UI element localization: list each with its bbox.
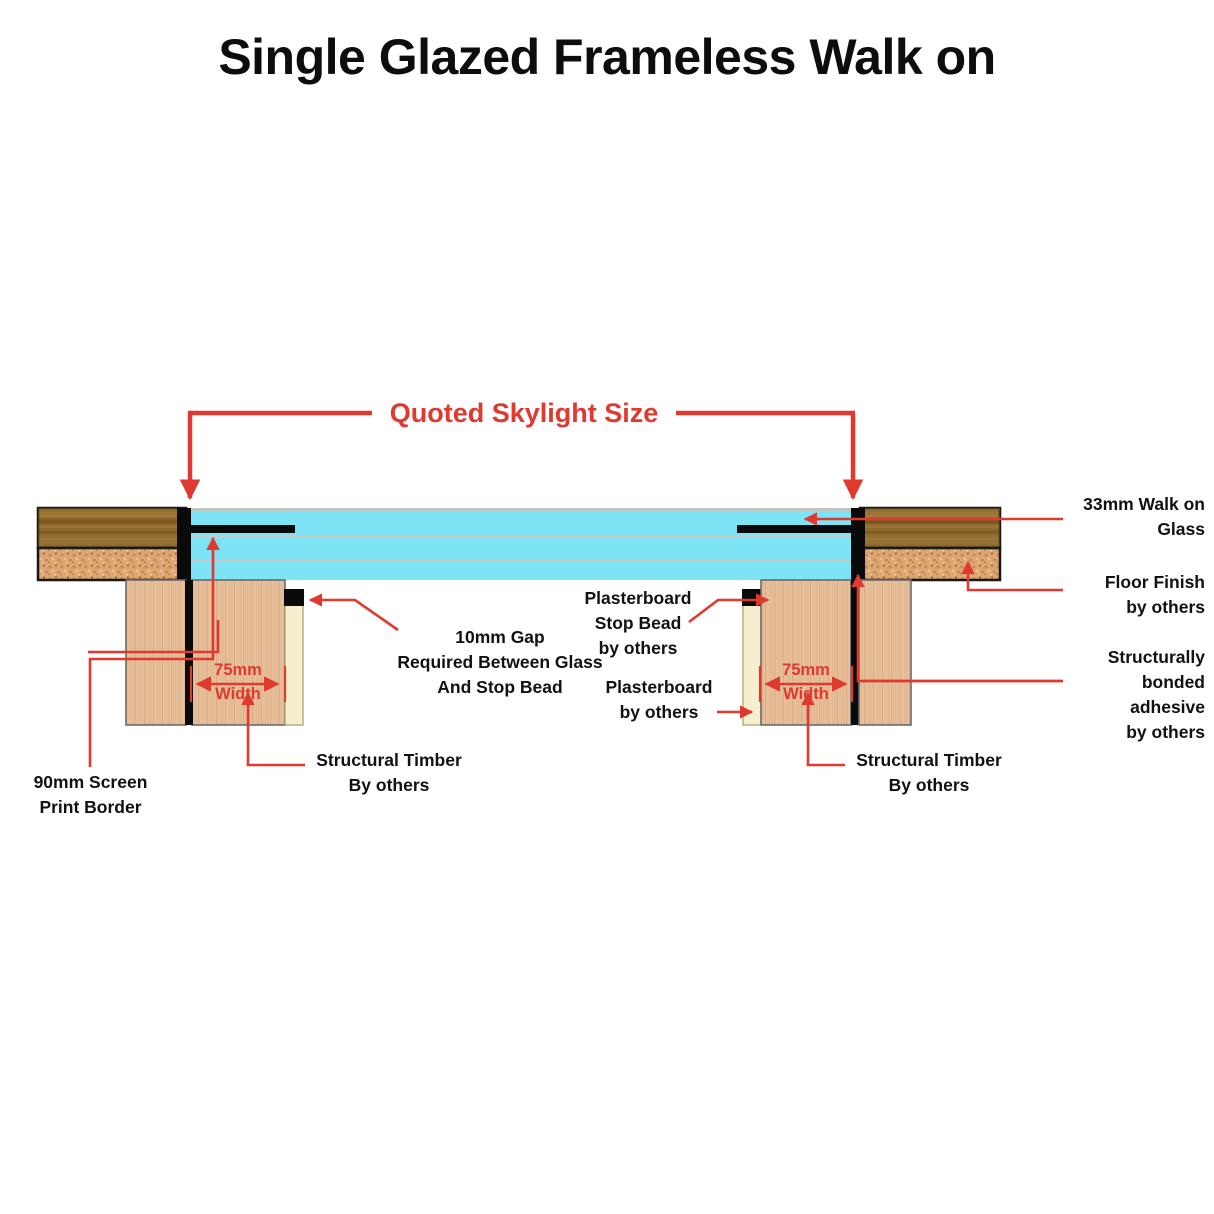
screen-print-border-left xyxy=(190,525,295,533)
floor-finish-left xyxy=(38,508,186,580)
quoted-skylight-size-label: Quoted Skylight Size xyxy=(372,398,676,429)
label-90mm-screen-print-border: 90mm Screen Print Border xyxy=(8,770,173,820)
dimension-label-width-left: 75mm Width xyxy=(188,658,288,706)
structural-timber-right-outer xyxy=(859,580,911,725)
label-structural-timber-right: Structural Timber By others xyxy=(838,748,1020,798)
floor-underlay-right xyxy=(860,548,1000,580)
walk-on-glass-assembly xyxy=(185,508,860,580)
plasterboard-stop-bead-right xyxy=(742,589,762,606)
floor-wood-grain-left xyxy=(38,508,186,548)
label-plasterboard-stop-bead: Plasterboard Stop Bead by others xyxy=(549,586,727,661)
floor-wood-grain-right xyxy=(860,508,1000,548)
label-plasterboard: Plasterboard by others xyxy=(570,675,748,725)
plasterboard-stop-bead-left xyxy=(284,589,304,606)
bonded-adhesive-left xyxy=(177,508,191,580)
floor-underlay-left xyxy=(38,548,186,580)
glass-layer-2 xyxy=(185,538,860,559)
screen-print-border-right xyxy=(737,525,851,533)
label-structural-timber-left: Structural Timber By others xyxy=(298,748,480,798)
label-33mm-walk-on-glass: 33mm Walk on Glass xyxy=(1005,492,1205,542)
glass-layer-3 xyxy=(185,562,860,580)
label-structurally-bonded-adhesive: Structurally bonded adhesive by others xyxy=(1005,645,1205,745)
label-floor-finish: Floor Finish by others xyxy=(1005,570,1205,620)
dimension-label-width-right: 75mm Width xyxy=(756,658,856,706)
